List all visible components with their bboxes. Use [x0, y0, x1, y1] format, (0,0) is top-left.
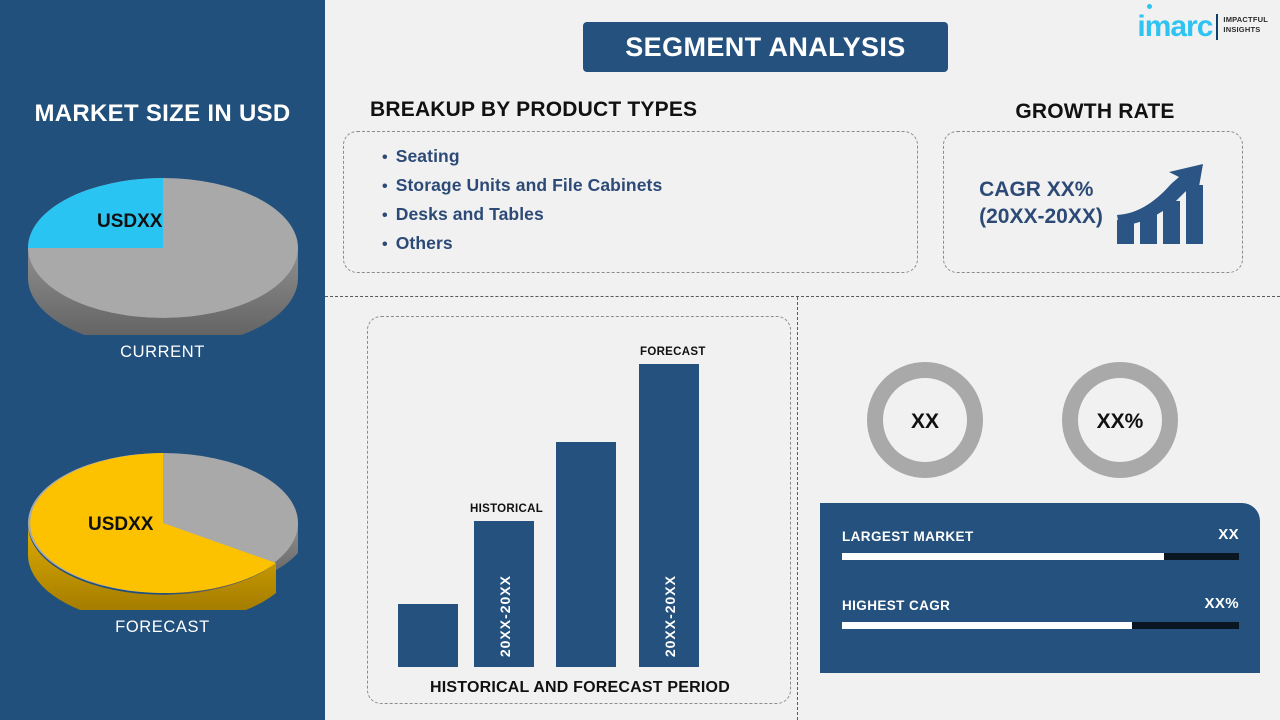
page-title: SEGMENT ANALYSIS	[625, 32, 905, 63]
list-item-label: Others	[396, 233, 453, 254]
list-item-label: Desks and Tables	[396, 204, 544, 225]
list-item-label: Storage Units and File Cabinets	[396, 175, 663, 196]
bar-4-period-label: 20XX-20XX	[662, 575, 678, 657]
list-item: • Seating	[382, 146, 662, 167]
list-item: • Storage Units and File Cabinets	[382, 175, 662, 196]
segment-analysis-content: SEGMENT ANALYSIS imarc IMPACTFUL INSIGHT…	[325, 0, 1280, 720]
stat-highest-cagr: HIGHEST CAGR XX%	[842, 598, 1239, 629]
breakup-list: • Seating • Storage Units and File Cabin…	[382, 146, 662, 262]
cagr-period: (20XX-20XX)	[979, 203, 1103, 230]
logo-divider	[1216, 14, 1218, 40]
pie-current-caption: CURRENT	[0, 343, 325, 362]
market-size-panel: MARKET SIZE IN USD USDXX CURRENT	[0, 0, 325, 720]
bullet-icon: •	[382, 150, 388, 166]
list-item-label: Seating	[396, 146, 460, 167]
donut-right-center-label: XX%	[1097, 410, 1144, 433]
growth-bars-arrow-icon	[1113, 160, 1209, 246]
stat-largest-market-fill	[842, 553, 1164, 560]
bullet-icon: •	[382, 237, 388, 253]
stat-highest-cagr-label: HIGHEST CAGR	[842, 598, 950, 613]
donut-right-svg: XX%	[1056, 356, 1184, 484]
chart-x-axis-title: HISTORICAL AND FORECAST PERIOD	[368, 679, 792, 697]
bullet-icon: •	[382, 208, 388, 224]
logo-tagline: IMPACTFUL INSIGHTS	[1223, 12, 1268, 35]
bar-4-annotation: FORECAST	[640, 346, 706, 358]
cagr-value: CAGR XX%	[979, 176, 1103, 203]
pie-forecast-value-label: USDXX	[88, 514, 154, 535]
pie-current-value-label: USDXX	[97, 211, 163, 232]
bar-2-period-label: 20XX-20XX	[497, 575, 513, 657]
vertical-divider	[797, 297, 798, 720]
stat-largest-market-track	[842, 553, 1239, 560]
bar-3	[556, 442, 616, 667]
pie-current-svg: USDXX	[18, 160, 308, 335]
historical-forecast-bar-chart: HISTORICAL 20XX-20XX FORECAST 20XX-20XX …	[368, 317, 792, 705]
pie-chart-current: USDXX CURRENT	[0, 160, 325, 362]
stat-largest-market-label: LARGEST MARKET	[842, 529, 974, 544]
stat-largest-market-value: XX	[1218, 526, 1239, 543]
bullet-icon: •	[382, 179, 388, 195]
key-stats-card: LARGEST MARKET XX HIGHEST CAGR XX%	[820, 503, 1260, 673]
logo-tagline-line2: INSIGHTS	[1223, 25, 1260, 34]
growth-rate-box: CAGR XX% (20XX-20XX)	[943, 131, 1243, 273]
historical-forecast-chart-box: HISTORICAL 20XX-20XX FORECAST 20XX-20XX …	[367, 316, 791, 704]
stat-highest-cagr-fill	[842, 622, 1132, 629]
stat-highest-cagr-track	[842, 622, 1239, 629]
donut-chart-count: XX	[861, 356, 989, 489]
imarc-logo: imarc IMPACTFUL INSIGHTS	[1137, 12, 1268, 42]
breakup-box: • Seating • Storage Units and File Cabin…	[343, 131, 918, 273]
market-size-panel-title: MARKET SIZE IN USD	[0, 100, 325, 128]
logo-tagline-line1: IMPACTFUL	[1223, 15, 1268, 24]
segment-analysis-banner: SEGMENT ANALYSIS	[583, 22, 948, 72]
bar-1	[398, 604, 458, 667]
donut-chart-percent: XX%	[1056, 356, 1184, 489]
growth-rate-section-title: GROWTH RATE	[945, 100, 1245, 124]
stat-largest-market-head: LARGEST MARKET XX	[842, 529, 1239, 548]
donut-left-center-label: XX	[911, 410, 939, 433]
logo-wordmark: imarc	[1137, 12, 1212, 42]
stat-largest-market: LARGEST MARKET XX	[842, 529, 1239, 560]
list-item: • Desks and Tables	[382, 204, 662, 225]
growth-rate-content: CAGR XX% (20XX-20XX)	[944, 132, 1244, 274]
pie-forecast-svg: USDXX	[18, 435, 308, 610]
logo-dot-icon	[1147, 4, 1152, 9]
stat-highest-cagr-value: XX%	[1204, 595, 1239, 612]
pie-chart-forecast: USDXX FORECAST	[0, 435, 325, 637]
stat-highest-cagr-head: HIGHEST CAGR XX%	[842, 598, 1239, 617]
bar-2-annotation: HISTORICAL	[470, 503, 543, 515]
cagr-text: CAGR XX% (20XX-20XX)	[979, 176, 1103, 231]
list-item: • Others	[382, 233, 662, 254]
pie-forecast-caption: FORECAST	[0, 618, 325, 637]
donut-left-svg: XX	[861, 356, 989, 484]
horizontal-divider	[325, 296, 1280, 297]
breakup-section-title: BREAKUP BY PRODUCT TYPES	[370, 98, 697, 122]
